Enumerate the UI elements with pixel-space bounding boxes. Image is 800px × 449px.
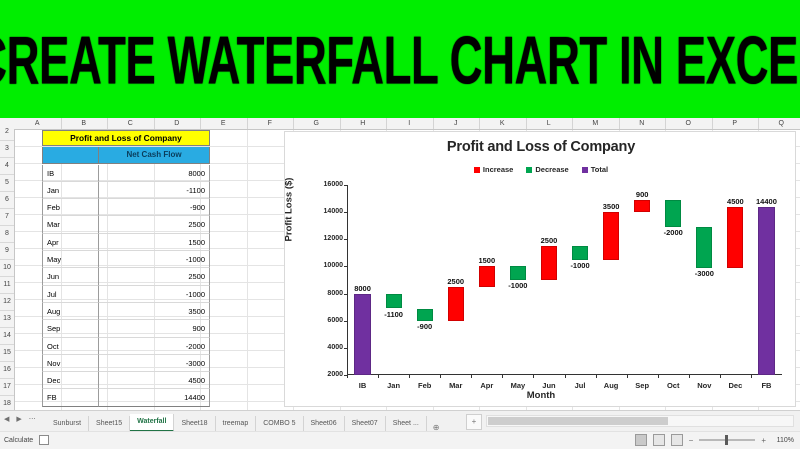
page-layout-view-icon[interactable] bbox=[653, 434, 665, 446]
y-tick-mark bbox=[344, 185, 347, 186]
sheet-tab-sheet06[interactable]: Sheet06 bbox=[304, 416, 345, 432]
chart-bar[interactable] bbox=[665, 200, 681, 227]
table-cell-value[interactable]: 900 bbox=[99, 320, 210, 337]
table-row[interactable]: FB14400 bbox=[42, 389, 210, 406]
x-tick-mark bbox=[596, 375, 597, 378]
y-tick-label: 14000 bbox=[313, 208, 343, 215]
chart-bar[interactable] bbox=[758, 207, 774, 375]
x-tick-mark bbox=[627, 375, 628, 378]
sheet-tab-sheet[interactable]: Sheet ... bbox=[386, 416, 427, 432]
table-row[interactable]: Aug3500 bbox=[42, 303, 210, 320]
row-header-8[interactable]: 8 bbox=[0, 225, 14, 243]
table-cell-value[interactable]: -1000 bbox=[99, 251, 210, 268]
normal-view-icon[interactable] bbox=[635, 434, 647, 446]
y-tick-label: 10000 bbox=[313, 262, 343, 269]
y-tick-mark bbox=[344, 294, 347, 295]
horizontal-scrollbar[interactable] bbox=[486, 415, 794, 427]
legend-swatch bbox=[474, 167, 480, 173]
table-cell-month[interactable]: May bbox=[42, 251, 99, 268]
table-row[interactable]: Mar2500 bbox=[42, 216, 210, 233]
table-row[interactable]: Oct-2000 bbox=[42, 338, 210, 355]
chart-title: Profit and Loss of Company bbox=[285, 139, 797, 155]
x-tick-mark bbox=[689, 375, 690, 378]
chart-bar[interactable] bbox=[603, 212, 619, 260]
sheet-tab-sheet07[interactable]: Sheet07 bbox=[345, 416, 386, 432]
row-header-14[interactable]: 14 bbox=[0, 327, 14, 345]
row-header-column: 234567891011121314151617181920 bbox=[0, 129, 15, 410]
bar-data-label: -3000 bbox=[689, 269, 720, 278]
legend-item-decrease[interactable]: Decrease bbox=[526, 165, 568, 174]
row-header-11[interactable]: 11 bbox=[0, 276, 14, 294]
chart-bar[interactable] bbox=[696, 227, 712, 268]
x-tick-label: IB bbox=[347, 381, 378, 390]
table-cell-month[interactable]: Sep bbox=[42, 320, 99, 337]
excel-screenshot: CREATE WATERFALL CHART IN EXCEL ABCDEFGH… bbox=[0, 0, 800, 448]
row-header-7[interactable]: 7 bbox=[0, 208, 14, 226]
table-cell-value[interactable]: 2500 bbox=[99, 268, 210, 285]
bar-data-label: -1000 bbox=[502, 281, 533, 290]
x-tick-mark bbox=[440, 375, 441, 378]
calculate-status: Calculate bbox=[4, 437, 33, 444]
next-sheet-icon[interactable]: ▶ bbox=[16, 415, 21, 423]
row-header-6[interactable]: 6 bbox=[0, 191, 14, 209]
title-banner: CREATE WATERFALL CHART IN EXCEL bbox=[0, 0, 800, 118]
sheet-tab-combo-5[interactable]: COMBO 5 bbox=[256, 416, 303, 432]
table-cell-month[interactable]: Jul bbox=[42, 286, 99, 303]
table-row[interactable]: Nov-3000 bbox=[42, 355, 210, 372]
row-header-9[interactable]: 9 bbox=[0, 242, 14, 260]
row-header-16[interactable]: 16 bbox=[0, 361, 14, 379]
legend-item-total[interactable]: Total bbox=[582, 165, 608, 174]
table-cell-month[interactable]: Apr bbox=[42, 234, 99, 251]
plot-area: 2000400060008000100001200014000160008000… bbox=[347, 185, 782, 375]
row-header-17[interactable]: 17 bbox=[0, 378, 14, 396]
table-header-value: Net Cash Flow bbox=[99, 147, 210, 164]
x-tick-label: Aug bbox=[596, 381, 627, 390]
table-cell-month[interactable]: FB bbox=[42, 389, 99, 406]
table-cell-value[interactable]: 2500 bbox=[99, 216, 210, 233]
table-cell-value[interactable]: -3000 bbox=[99, 355, 210, 372]
column-header-j[interactable]: J bbox=[433, 118, 481, 129]
x-tick-label: Dec bbox=[720, 381, 751, 390]
bar-data-label: 14400 bbox=[751, 197, 782, 206]
chart-bar[interactable] bbox=[354, 294, 370, 375]
table-row[interactable]: Jun2500 bbox=[42, 268, 210, 285]
sheet-tabs: SunburstSheet15WaterfallSheet18treemapCO… bbox=[46, 411, 439, 432]
table-cell-value[interactable]: -1100 bbox=[99, 182, 210, 199]
column-header-p[interactable]: P bbox=[712, 118, 760, 129]
sheet-tab-sunburst[interactable]: Sunburst bbox=[46, 416, 89, 432]
sheet-tab-sheet15[interactable]: Sheet15 bbox=[89, 416, 130, 432]
bar-data-label: -1000 bbox=[565, 261, 596, 270]
x-tick-mark bbox=[533, 375, 534, 378]
table-cell-month[interactable]: Mar bbox=[42, 216, 99, 233]
x-tick-mark bbox=[378, 375, 379, 378]
legend-label: Increase bbox=[483, 165, 513, 174]
legend-label: Total bbox=[591, 165, 608, 174]
row-header-18[interactable]: 18 bbox=[0, 395, 14, 410]
table-row[interactable]: May-1000 bbox=[42, 251, 210, 268]
table-row[interactable]: Apr1500 bbox=[42, 234, 210, 251]
row-header-12[interactable]: 12 bbox=[0, 293, 14, 311]
chart-bar[interactable] bbox=[510, 266, 526, 280]
table-cell-value[interactable]: -900 bbox=[99, 199, 210, 216]
x-tick-mark bbox=[347, 375, 348, 378]
sheet-tab-sheet18[interactable]: Sheet18 bbox=[174, 416, 215, 432]
bar-data-label: 2500 bbox=[533, 236, 564, 245]
x-tick-label: Nov bbox=[689, 381, 720, 390]
row-header-4[interactable]: 4 bbox=[0, 157, 14, 175]
bar-data-label: -900 bbox=[409, 322, 440, 331]
sheet-tab-waterfall[interactable]: Waterfall bbox=[130, 414, 174, 432]
x-tick-mark bbox=[658, 375, 659, 378]
zoom-out-button[interactable]: − bbox=[689, 436, 694, 445]
column-header-e[interactable]: E bbox=[200, 118, 248, 129]
waterfall-chart[interactable]: Profit and Loss of Company IncreaseDecre… bbox=[284, 131, 796, 407]
bar-data-label: -2000 bbox=[658, 228, 689, 237]
x-tick-label: Jul bbox=[565, 381, 596, 390]
bar-data-label: 3500 bbox=[596, 202, 627, 211]
x-tick-mark bbox=[720, 375, 721, 378]
table-header-month bbox=[42, 147, 99, 164]
zoom-slider-knob[interactable] bbox=[725, 435, 728, 445]
table-cell-month[interactable]: Jan bbox=[42, 182, 99, 199]
legend-swatch bbox=[526, 167, 532, 173]
table-cell-month[interactable]: Feb bbox=[42, 199, 99, 216]
legend-label: Decrease bbox=[535, 165, 568, 174]
y-tick-label: 2000 bbox=[313, 371, 343, 378]
zoom-level[interactable]: 110% bbox=[772, 437, 794, 444]
new-sheet-button[interactable]: + bbox=[466, 414, 482, 430]
bar-data-label: 1500 bbox=[471, 256, 502, 265]
table-cell-month[interactable]: Nov bbox=[42, 355, 99, 372]
y-tick-label: 6000 bbox=[313, 317, 343, 324]
bar-data-label: 8000 bbox=[347, 284, 378, 293]
x-tick-label: Jan bbox=[378, 381, 409, 390]
table-cell-month[interactable]: Jun bbox=[42, 268, 99, 285]
banner-title: CREATE WATERFALL CHART IN EXCEL bbox=[0, 19, 800, 99]
table-cell-month[interactable]: IB bbox=[42, 165, 99, 182]
row-header-5[interactable]: 5 bbox=[0, 174, 14, 192]
column-header-b[interactable]: B bbox=[61, 118, 109, 129]
x-tick-mark bbox=[471, 375, 472, 378]
column-header-o[interactable]: O bbox=[665, 118, 713, 129]
column-header-a[interactable]: A bbox=[14, 118, 62, 129]
chart-bar[interactable] bbox=[727, 207, 743, 268]
scrollbar-thumb[interactable] bbox=[488, 417, 668, 425]
x-tick-label: Sep bbox=[627, 381, 658, 390]
table-header-row: Net Cash Flow bbox=[42, 147, 210, 164]
column-header-g[interactable]: G bbox=[293, 118, 341, 129]
status-left: Calculate bbox=[4, 435, 49, 445]
y-tick-label: 16000 bbox=[313, 181, 343, 188]
table-cell-value[interactable]: -2000 bbox=[99, 338, 210, 355]
recording-macro-icon[interactable] bbox=[39, 435, 49, 445]
table-body: IB8000Jan-1100Feb-900Mar2500Apr1500May-1… bbox=[42, 165, 210, 407]
sheet-tab-treemap[interactable]: treemap bbox=[216, 416, 257, 432]
table-row[interactable]: Jul-1000 bbox=[42, 286, 210, 303]
legend-swatch bbox=[582, 167, 588, 173]
page-break-view-icon[interactable] bbox=[671, 434, 683, 446]
table-cell-value[interactable]: 1500 bbox=[99, 234, 210, 251]
sheet-tab-bar: ◀ ▶ ⋯ SunburstSheet15WaterfallSheet18tre… bbox=[0, 410, 800, 432]
y-tick-label: 12000 bbox=[313, 235, 343, 242]
table-cell-month[interactable]: Dec bbox=[42, 372, 99, 389]
x-tick-label: FB bbox=[751, 381, 782, 390]
prev-sheet-icon[interactable]: ◀ bbox=[4, 415, 9, 423]
zoom-slider[interactable] bbox=[699, 439, 755, 441]
x-tick-label: Apr bbox=[471, 381, 502, 390]
table-title-row: Profit and Loss of Company bbox=[42, 130, 210, 147]
table-cell-value[interactable]: 14400 bbox=[99, 389, 210, 406]
chart-bar[interactable] bbox=[479, 266, 495, 286]
x-tick-mark bbox=[565, 375, 566, 378]
bar-data-label: 2500 bbox=[440, 277, 471, 286]
legend-item-increase[interactable]: Increase bbox=[474, 165, 513, 174]
table-row[interactable]: Feb-900 bbox=[42, 199, 210, 216]
bar-data-label: 4500 bbox=[720, 197, 751, 206]
more-sheets-icon[interactable]: ⋯ bbox=[29, 415, 36, 423]
row-header-13[interactable]: 13 bbox=[0, 310, 14, 328]
table-cell-value[interactable]: 4500 bbox=[99, 372, 210, 389]
chart-bar[interactable] bbox=[448, 287, 464, 321]
x-tick-mark bbox=[502, 375, 503, 378]
table-row[interactable]: Jan-1100 bbox=[42, 182, 210, 199]
bar-data-label: 900 bbox=[627, 190, 658, 199]
zoom-in-button[interactable]: + bbox=[761, 436, 766, 445]
y-tick-label: 8000 bbox=[313, 290, 343, 297]
x-tick-label: Mar bbox=[440, 381, 471, 390]
table-cell-month[interactable]: Aug bbox=[42, 303, 99, 320]
y-tick-mark bbox=[344, 266, 347, 267]
chart-legend: IncreaseDecreaseTotal bbox=[285, 165, 797, 174]
row-header-3[interactable]: 3 bbox=[0, 140, 14, 158]
row-header-2[interactable]: 2 bbox=[0, 123, 14, 141]
chart-bar[interactable] bbox=[386, 294, 402, 309]
y-tick-mark bbox=[344, 239, 347, 240]
y-tick-mark bbox=[344, 348, 347, 349]
table-row[interactable]: Sep900 bbox=[42, 320, 210, 337]
table-cell-month[interactable]: Oct bbox=[42, 338, 99, 355]
x-tick-label: Oct bbox=[658, 381, 689, 390]
chart-bar[interactable] bbox=[572, 246, 588, 260]
table-title: Profit and Loss of Company bbox=[42, 130, 210, 146]
column-header-row: ABCDEFGHIJKLMNOPQ bbox=[0, 118, 800, 130]
x-tick-label: May bbox=[502, 381, 533, 390]
chart-bar[interactable] bbox=[417, 309, 433, 321]
x-axis-title: Month bbox=[285, 390, 797, 401]
sheet-nav-arrows[interactable]: ◀ ▶ ⋯ bbox=[4, 415, 36, 423]
y-tick-mark bbox=[344, 212, 347, 213]
table-row[interactable]: IB8000 bbox=[42, 165, 210, 182]
row-header-15[interactable]: 15 bbox=[0, 344, 14, 362]
column-header-h[interactable]: H bbox=[340, 118, 388, 129]
y-tick-mark bbox=[344, 321, 347, 322]
table-cell-value[interactable]: 8000 bbox=[99, 165, 210, 182]
column-header-c[interactable]: C bbox=[107, 118, 155, 129]
row-header-10[interactable]: 10 bbox=[0, 259, 14, 277]
chart-bar[interactable] bbox=[634, 200, 650, 212]
y-axis-title: Profit Loss ($) bbox=[284, 160, 295, 260]
column-header-i[interactable]: I bbox=[386, 118, 434, 129]
table-cell-value[interactable]: -1000 bbox=[99, 286, 210, 303]
x-tick-label: Feb bbox=[409, 381, 440, 390]
status-right: − + 110% bbox=[635, 434, 794, 446]
x-tick-mark bbox=[751, 375, 752, 378]
column-header-q[interactable]: Q bbox=[758, 118, 800, 129]
y-tick-label: 4000 bbox=[313, 344, 343, 351]
x-tick-label: Jun bbox=[533, 381, 564, 390]
column-header-n[interactable]: N bbox=[619, 118, 667, 129]
column-header-m[interactable]: M bbox=[572, 118, 620, 129]
table-row[interactable]: Dec4500 bbox=[42, 372, 210, 389]
data-table: Profit and Loss of Company Net Cash Flow… bbox=[42, 130, 210, 407]
column-header-l[interactable]: L bbox=[526, 118, 574, 129]
table-cell-value[interactable]: 3500 bbox=[99, 303, 210, 320]
column-header-k[interactable]: K bbox=[479, 118, 527, 129]
bar-data-label: -1100 bbox=[378, 310, 409, 319]
x-tick-mark bbox=[409, 375, 410, 378]
chart-bar[interactable] bbox=[541, 246, 557, 280]
y-axis-line bbox=[347, 185, 348, 375]
column-header-f[interactable]: F bbox=[247, 118, 295, 129]
status-bar: Calculate − + 110% bbox=[0, 431, 800, 449]
column-header-d[interactable]: D bbox=[154, 118, 202, 129]
